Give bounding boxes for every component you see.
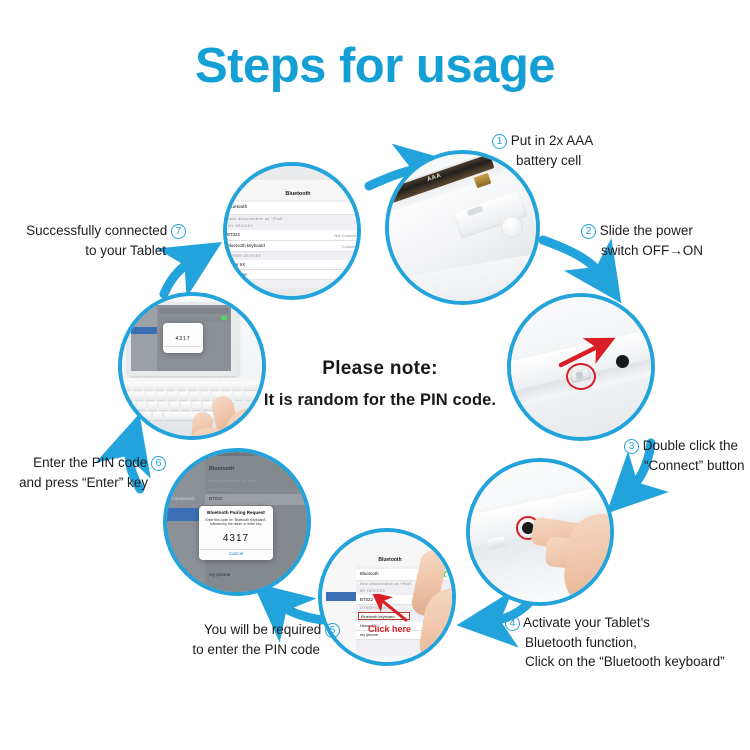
photo-step-5-pairing-request: Not Connected Bluetooth Now discoverable…	[163, 448, 311, 596]
step-badge-7: 7	[171, 224, 186, 239]
dialog-body: Enter this code on “Bluetooth Keyboard”,…	[202, 518, 270, 527]
click-here-photo: 10:40 91% ■ Bluetooth Bluetooth Now disc…	[322, 532, 452, 662]
discoverable-subtitle: Now discoverable as “iPad”.	[228, 216, 285, 221]
annotation-step-6-line-2: and press “Enter” key	[0, 473, 166, 493]
dialog-pin: 4317	[199, 533, 273, 544]
annotation-step-2: 2 Slide the power switch OFF→ON	[581, 221, 703, 260]
annotation-step-4-text-1: Activate your Tablet's	[523, 615, 650, 630]
group-my-devices: MY DEVICES	[360, 589, 385, 593]
pairing-dialog: 4317	[163, 323, 203, 353]
annotation-step-1-text-1: Put in 2x AAA	[511, 133, 594, 148]
dialog-title: Bluetooth Pairing Request	[199, 510, 273, 515]
status-time: 10:40	[226, 181, 235, 185]
photo-step-1-battery: AAA	[385, 150, 540, 305]
discoverable-subtitle: Now discoverable as “iPad”.	[360, 582, 413, 586]
annotation-step-5: You will be required 5 to enter the PIN …	[140, 620, 340, 659]
annotation-step-7-text-1: Successfully connected	[26, 223, 167, 238]
annotation-step-3: 3 Double click the “Connect” button	[624, 436, 745, 475]
connect-button-photo	[470, 462, 610, 602]
device-status: Not Connected	[334, 233, 361, 238]
annotation-step-4-line-2: Bluetooth function,	[505, 633, 725, 653]
dialog-cancel-button[interactable]: Cancel	[199, 551, 273, 556]
bluetooth-toggle-row[interactable]: Bluetooth	[223, 202, 361, 215]
group-my-devices: MY DEVICES	[228, 224, 253, 228]
status-battery: 91% ■	[441, 549, 451, 553]
annotation-step-1-line-2: battery cell	[492, 151, 593, 171]
device-status: Connected	[342, 244, 361, 249]
pairing-request-photo: Not Connected Bluetooth Now discoverable…	[167, 452, 307, 592]
annotation-step-4-line-3: Click on the “Bluetooth keyboard”	[505, 652, 725, 672]
nav-title: Bluetooth	[223, 191, 361, 197]
annotation-step-6-line-1: Enter the PIN code 6	[0, 453, 166, 473]
photo-step-3-connect-button	[466, 458, 614, 606]
sidebar-status-text: Not Connected	[163, 496, 194, 501]
annotation-step-5-line-1: You will be required 5	[140, 620, 340, 640]
status-time: 10:40	[329, 549, 338, 553]
device-name: BT022	[227, 232, 240, 237]
click-here-arrow	[372, 594, 412, 624]
annotation-step-4-line-1: 4 Activate your Tablet's	[505, 613, 725, 633]
sidebar-selected-row[interactable]	[326, 592, 356, 601]
step-badge-2: 2	[581, 224, 596, 239]
device-name: Bluetooth keyboard	[227, 243, 265, 248]
center-note: Please note: It is random for the PIN co…	[225, 358, 535, 410]
annotation-step-1: 1 Put in 2x AAA battery cell	[492, 131, 593, 170]
charging-port	[616, 355, 629, 368]
annotation-step-6-text-1: Enter the PIN code	[33, 455, 147, 470]
annotation-step-3-line-2: “Connect” button	[624, 456, 745, 476]
note-line-2: It is random for the PIN code.	[225, 391, 535, 410]
device-row-bt022[interactable]: BT022	[209, 496, 223, 501]
step-badge-1: 1	[492, 134, 507, 149]
pane-title: Bluetooth	[209, 466, 234, 472]
bluetooth-toggle-label: Bluetooth	[227, 205, 247, 210]
annotation-step-5-line-2: to enter the PIN code	[140, 640, 340, 660]
step-badge-5: 5	[325, 623, 340, 638]
group-other-devices: OTHER DEVICES	[228, 254, 261, 258]
photo-step-7-connected: 10:40 91% ■ Bluetooth Bluetooth Now disc…	[223, 162, 361, 300]
step-badge-6: 6	[151, 456, 166, 471]
red-arrow	[557, 337, 617, 371]
pairing-dialog: Bluetooth Pairing Request Enter this cod…	[199, 506, 273, 560]
annotation-step-7-line-1: Successfully connected 7	[0, 221, 186, 241]
annotation-step-3-text-1: Double click the	[643, 438, 738, 453]
annotation-step-5-text-1: You will be required	[204, 622, 321, 637]
step-badge-3: 3	[624, 439, 639, 454]
battery-photo: AAA	[389, 154, 536, 301]
tablet-screen: 10:40 91% ■ Bluetooth Bluetooth Now disc…	[223, 180, 361, 288]
annotation-step-2-text-1: Slide the power	[600, 223, 693, 238]
group-my-devices: MY DEVICES	[209, 488, 231, 492]
annotation-step-1-line-1: 1 Put in 2x AAA	[492, 131, 593, 151]
other-device-2: my iphone	[227, 272, 247, 277]
annotation-step-7: Successfully connected 7 to your Tablet	[0, 221, 186, 260]
step-badge-4: 4	[505, 616, 520, 631]
bluetooth-toggle-label: Bluetooth	[360, 571, 379, 576]
other-device-iphone[interactable]: my iphone	[209, 572, 230, 577]
other-device-1: Honor 6X	[227, 262, 245, 267]
note-line-1: Please note:	[225, 358, 535, 380]
device-row-honor[interactable]: Honor 6X	[223, 260, 361, 270]
arrow-4-to-5	[276, 602, 322, 620]
annotation-step-2-line-1: 2 Slide the power	[581, 221, 703, 241]
annotation-step-6: Enter the PIN code 6 and press “Enter” k…	[0, 453, 166, 492]
device-name: BT022	[360, 597, 373, 602]
tablet-screen: 4317	[131, 305, 231, 371]
status-bar: 10:40 91% ■	[223, 180, 361, 188]
annotation-step-7-line-2: to your Tablet	[0, 241, 186, 261]
annotation-step-4: 4 Activate your Tablet's Bluetooth funct…	[505, 613, 725, 672]
device-row-bt022[interactable]: BT022 Not Connected i	[223, 230, 361, 241]
annotation-step-2-line-2: switch OFF→ON	[581, 241, 703, 261]
poster-stage: Steps for usage	[0, 0, 750, 750]
discoverable-subtitle: Now discoverable as “iPad”.	[209, 478, 259, 483]
annotation-step-3-line-1: 3 Double click the	[624, 436, 745, 456]
toggle-knob	[445, 572, 450, 577]
click-here-label: Click here	[368, 624, 411, 634]
device-row-bluetooth-keyboard[interactable]: Bluetooth keyboard Connected i	[223, 241, 361, 252]
dialog-pin: 4317	[163, 336, 203, 342]
arrow-6-to-7	[164, 258, 196, 294]
device-row-iphone[interactable]: my iphone	[223, 270, 361, 280]
connected-photo: 10:40 91% ■ Bluetooth Bluetooth Now disc…	[227, 166, 357, 296]
